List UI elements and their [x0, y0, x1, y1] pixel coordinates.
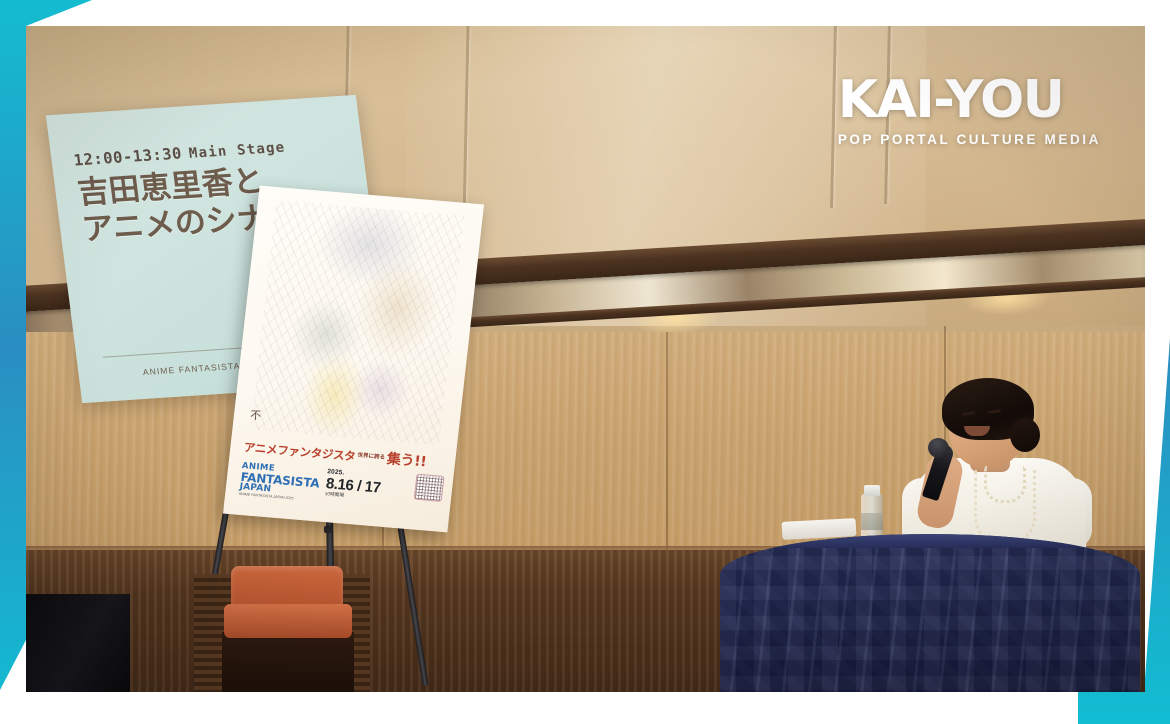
qr-code: [414, 474, 445, 502]
wood-seam: [666, 332, 668, 582]
event-poster: 不 アニメファンタジスタ世界に誇る集う!! ANIME FANTASISTA J…: [223, 186, 484, 533]
water-bottle-cap: [864, 485, 880, 496]
kaiyou-tagline: POP PORTAL CULTURE MEDIA: [838, 132, 1101, 147]
kaiyou-watermark: KAI-YOU POP PORTAL CULTURE MEDIA: [838, 74, 1101, 147]
chair-shadow: [222, 632, 354, 692]
poster-catchcopy-small1: 世界に誇る: [357, 454, 385, 462]
kaiyou-brand: KAI-YOU: [838, 74, 1101, 126]
poster-signature: 不: [250, 407, 262, 423]
tablecloth-folds: [720, 534, 1140, 692]
event-photograph: 12:00-13:30Main Stage 吉田恵里香と アニメのシナリオ AN…: [26, 26, 1145, 692]
stage-drape: [26, 594, 130, 692]
armchair-seat: [224, 604, 352, 638]
screenshot-root: 12:00-13:30Main Stage 吉田恵里香と アニメのシナリオ AN…: [0, 0, 1170, 724]
easel-knob: [324, 526, 333, 533]
pearl-necklace-short: [984, 466, 1026, 503]
water-bottle-label: [861, 513, 883, 530]
slide-stage: Main Stage: [188, 140, 286, 162]
poster-catchcopy-end: 集う!!: [386, 451, 427, 470]
poster-date-block: 2025. 8.16 / 17 10時開場: [325, 469, 383, 501]
round-table: [720, 534, 1140, 692]
poster-sketch-lines: [250, 200, 464, 445]
speaker-hair-tie: [1010, 418, 1040, 452]
slide-time: 12:00-13:30: [73, 144, 183, 169]
poster-catchcopy-main: アニメファンタジスタ: [243, 440, 356, 463]
